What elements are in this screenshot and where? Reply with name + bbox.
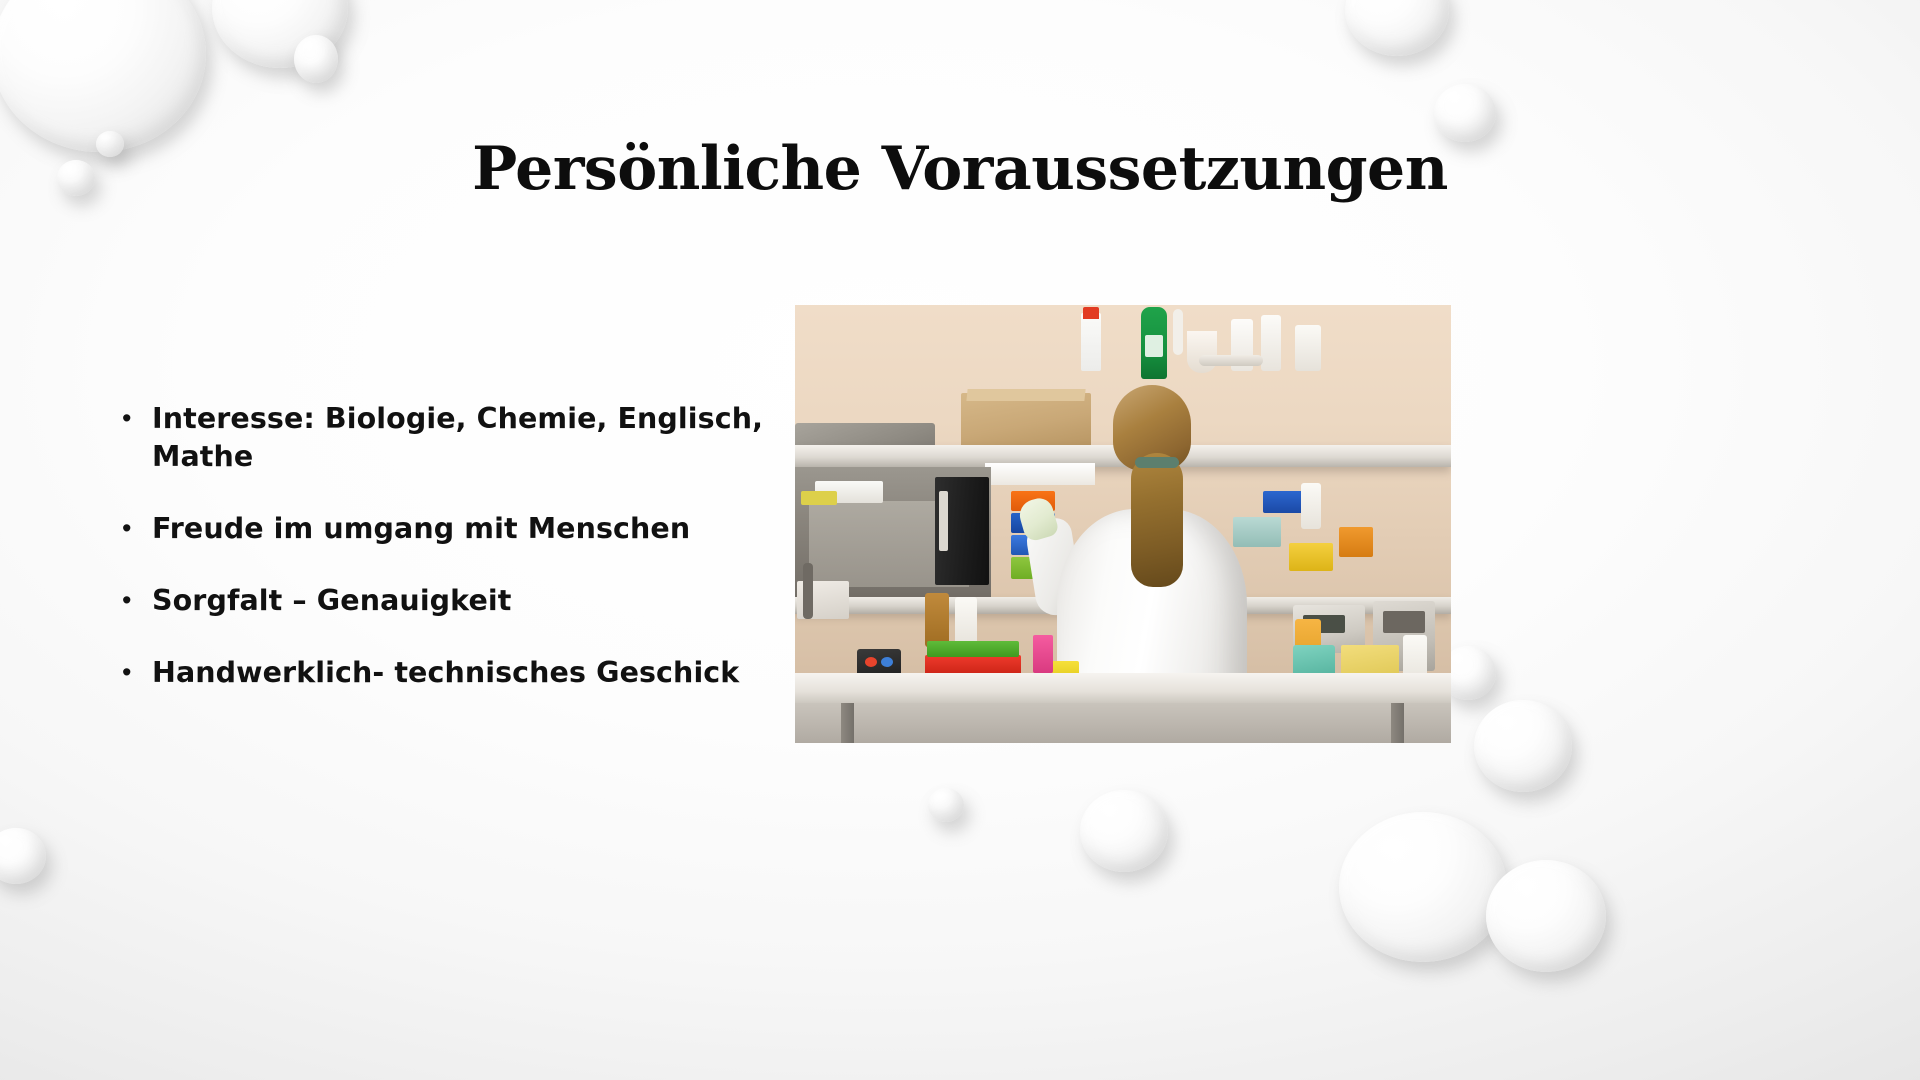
photo-binder-spine-label [939,491,948,551]
list-item: • Sorgfalt – Genauigkeit [122,582,802,620]
bullet-point-icon: • [122,654,152,691]
droplet-small-top-left [294,35,338,83]
photo-tube-white [1173,309,1183,355]
photo-tray-yellow [801,491,837,505]
photo-bottle-red-cap-top [1083,307,1099,319]
photo-bottle-white-b [1261,315,1281,371]
photo-bottle-red-cap [1081,313,1101,371]
photo-box-teal [1233,517,1281,547]
droplet-bottom-right-cluster-b [1486,860,1606,972]
photo-device-indicator [865,657,877,667]
photo-bench-top [795,673,1451,703]
droplet-tiny-bottom-left [0,828,46,884]
photo-bottle-white-c [1295,325,1321,371]
bullet-point-icon: • [122,510,152,547]
bullet-point-icon: • [122,400,152,437]
photo-box-yellow [1289,543,1333,571]
photo-cardboard-box [961,393,1091,449]
list-item: • Interesse: Biologie, Chemie, Englisch,… [122,400,802,476]
droplet-small-upper-left [57,160,95,196]
list-item-label: Handwerklich- technisches Geschick [152,654,802,692]
photo-bottle-green-label [1145,335,1163,357]
photo-device-indicator-blue [881,657,893,667]
photo-bench-leg-left [841,703,854,743]
photo-box-orange-small [1339,527,1373,557]
photo-bench-bottle-brown [925,593,949,647]
droplet-bottom-right-cluster-a [1339,812,1507,962]
bullet-list: • Interesse: Biologie, Chemie, Englisch,… [122,400,802,725]
photo-instrument-dark-panel [1383,611,1425,633]
photo-bench-leg-right [1391,703,1404,743]
photo-person-hairband [1135,457,1179,468]
photo-tube-rack-pink [1033,635,1053,673]
photo-tube-rack-green [927,641,1019,657]
list-item-label: Sorgfalt – Genauigkeit [152,582,802,620]
photo-glassware-a [1187,331,1217,373]
photo-person-ponytail [1131,453,1183,587]
droplet-medium-top-right [1345,0,1449,56]
droplet-large-top-left [0,0,206,152]
photo-bottle-shelf-right-a [1301,483,1321,529]
droplet-large-bottom-right [1474,700,1572,792]
photo-bench-front [795,703,1451,743]
photo-cardboard-box-flap [966,389,1085,401]
presentation-slide: Persönliche Voraussetzungen • Interesse:… [0,0,1920,1080]
photo-pipe-overhead [1199,355,1263,366]
photo-bench-pipette-stand [803,563,813,619]
list-item: • Freude im umgang mit Menschen [122,510,802,548]
droplet-tiny-bottom-center [928,788,964,822]
photo-paper-sheet [985,463,1095,485]
droplet-tiny-top-left [96,131,124,157]
droplet-medium-top-left [212,0,348,68]
page-title: Persönliche Voraussetzungen [160,138,1760,200]
droplet-small-bottom-center [1080,790,1168,872]
list-item-label: Interesse: Biologie, Chemie, Englisch, M… [152,400,802,476]
bullet-point-icon: • [122,582,152,619]
list-item-label: Freude im umgang mit Menschen [152,510,802,548]
laboratory-technician-photo [795,305,1451,743]
list-item: • Handwerklich- technisches Geschick [122,654,802,692]
